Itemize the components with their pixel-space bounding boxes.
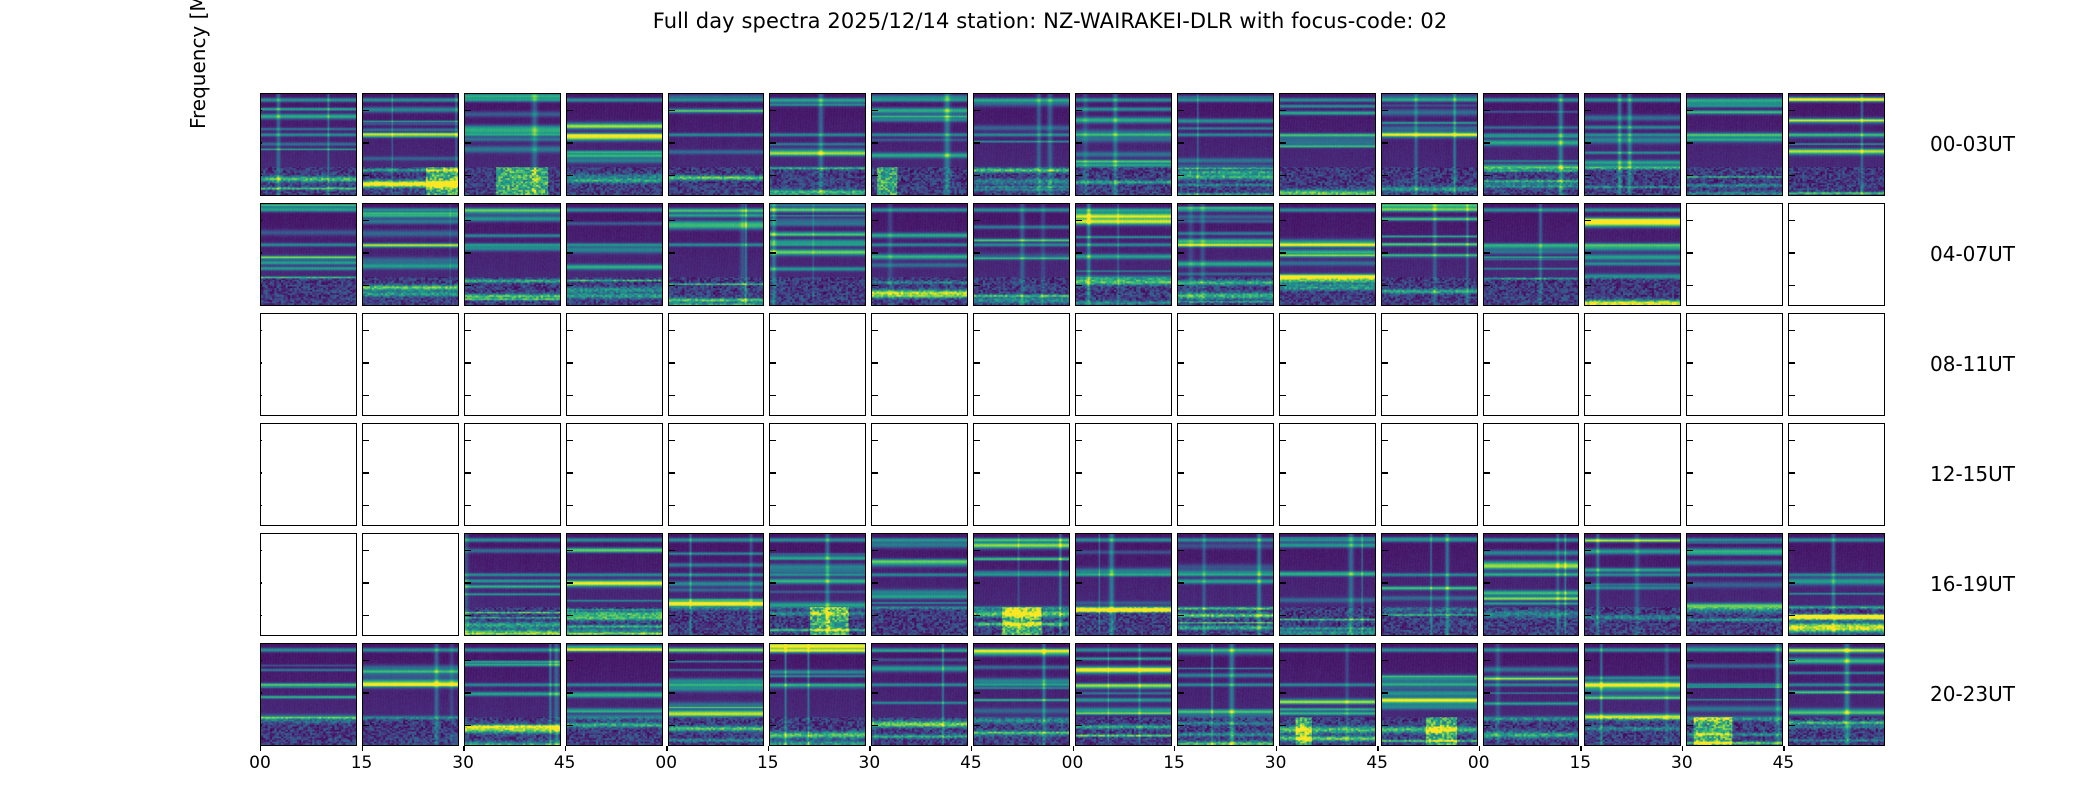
y-tick-mark (1585, 285, 1591, 287)
spectrogram-image (1178, 94, 1273, 195)
spectrogram-panel[interactable] (973, 203, 1070, 306)
y-tick-mark (1280, 582, 1286, 584)
spectrogram-panel-empty[interactable] (1177, 423, 1274, 526)
spectrogram-panel[interactable] (668, 93, 765, 196)
spectrogram-panel[interactable] (1381, 203, 1478, 306)
y-tick-mark (1382, 660, 1388, 662)
y-tick-mark (1789, 330, 1795, 332)
spectrogram-image (1178, 534, 1273, 635)
y-tick-mark (1585, 362, 1591, 364)
y-tick-mark (1382, 220, 1388, 222)
spectrogram-image (363, 644, 458, 745)
x-tick-mark (362, 746, 363, 751)
row-time-label: 12-15UT (1930, 462, 2015, 486)
spectrogram-panel[interactable] (973, 643, 1070, 746)
y-tick-mark (465, 110, 471, 112)
spectrogram-panel[interactable]: 750500250 (260, 203, 357, 306)
y-tick-mark (1789, 550, 1795, 552)
y-tick-mark (260, 220, 262, 222)
y-tick-mark (260, 550, 262, 552)
y-tick-mark (1382, 175, 1388, 177)
x-tick-label: 45 (554, 753, 576, 773)
y-tick-mark (974, 440, 980, 442)
spectrogram-panel-empty[interactable] (668, 423, 765, 526)
y-tick-mark (1076, 110, 1082, 112)
y-tick-mark (1687, 142, 1693, 144)
spectrogram-panel[interactable] (871, 533, 968, 636)
spectrogram-panel[interactable] (1177, 203, 1274, 306)
y-tick-mark (1585, 582, 1591, 584)
y-tick-mark (770, 550, 776, 552)
x-tick-mark (260, 746, 261, 751)
x-tick-mark (1783, 746, 1784, 751)
row-time-label: 04-07UT (1930, 242, 2015, 266)
x-tick-label: 30 (859, 753, 881, 773)
y-tick-mark (567, 582, 573, 584)
y-tick-mark (1076, 660, 1082, 662)
y-tick-mark (1076, 362, 1082, 364)
y-tick-mark (669, 725, 675, 727)
spectrogram-panel[interactable] (566, 203, 663, 306)
y-tick-mark (974, 252, 980, 254)
y-tick-mark (1382, 252, 1388, 254)
y-tick-mark (1076, 582, 1082, 584)
spectrogram-panel-empty[interactable] (464, 313, 561, 416)
y-tick-mark (465, 582, 471, 584)
spectrogram-image (872, 94, 967, 195)
y-tick-mark (1382, 440, 1388, 442)
y-tick-mark (260, 285, 262, 287)
spectrogram-panel-empty[interactable] (1686, 423, 1783, 526)
spectrogram-panel-empty[interactable] (1075, 313, 1172, 416)
y-tick-mark (669, 220, 675, 222)
y-tick-mark (1585, 252, 1591, 254)
y-tick-mark (260, 505, 262, 507)
y-tick-mark (770, 252, 776, 254)
y-tick-mark (1280, 660, 1286, 662)
y-tick-mark (1280, 692, 1286, 694)
y-tick-mark (1076, 505, 1082, 507)
spectrogram-panel[interactable] (1686, 643, 1783, 746)
y-tick-mark (770, 725, 776, 727)
y-tick-mark (567, 110, 573, 112)
spectrogram-panel[interactable]: 750500250 (260, 643, 357, 746)
spectrogram-panel[interactable] (871, 643, 968, 746)
spectrogram-panel[interactable] (769, 203, 866, 306)
y-tick-mark (1585, 175, 1591, 177)
spectrogram-panel-empty[interactable] (1686, 203, 1783, 306)
y-axis-label: Frequency [MHz] (186, 0, 210, 235)
spectrogram-panel[interactable] (1584, 93, 1681, 196)
spectrogram-panel[interactable] (566, 533, 663, 636)
y-tick-mark (669, 505, 675, 507)
spectrogram-panel-empty[interactable] (566, 423, 663, 526)
y-tick-mark (872, 175, 878, 177)
y-tick-mark (669, 472, 675, 474)
y-tick-mark (1484, 220, 1490, 222)
spectrogram-image (1382, 644, 1477, 745)
y-tick-mark (1076, 142, 1082, 144)
spectrogram-panel[interactable] (464, 533, 561, 636)
y-tick-mark (974, 395, 980, 397)
y-tick-mark (465, 220, 471, 222)
spectrogram-panel[interactable] (668, 643, 765, 746)
x-tick-mark (1174, 746, 1175, 751)
y-tick-mark (872, 692, 878, 694)
y-tick-mark (260, 660, 262, 662)
y-tick-mark (363, 110, 369, 112)
spectrogram-image (1178, 204, 1273, 305)
spectrogram-panel-empty[interactable] (1075, 423, 1172, 526)
y-tick-mark (669, 142, 675, 144)
spectrogram-panel[interactable] (1788, 93, 1885, 196)
y-tick-mark (770, 660, 776, 662)
y-tick-mark (974, 550, 980, 552)
y-tick-mark (1076, 395, 1082, 397)
spectrogram-panel[interactable]: 750500250 (260, 93, 357, 196)
spectrogram-panel[interactable] (871, 93, 968, 196)
spectrogram-panel[interactable] (1686, 93, 1783, 196)
y-tick-mark (1484, 660, 1490, 662)
x-tick-mark (1682, 746, 1683, 751)
spectrogram-panel-empty[interactable] (1177, 313, 1274, 416)
y-tick-mark (1280, 142, 1286, 144)
y-tick-mark (1178, 220, 1184, 222)
spectrogram-panel-empty[interactable] (668, 313, 765, 416)
y-tick-mark (872, 330, 878, 332)
spectrogram-image (1382, 94, 1477, 195)
spectrogram-panel[interactable] (769, 643, 866, 746)
spectrogram-panel[interactable] (769, 533, 866, 636)
spectrogram-panel[interactable] (1177, 93, 1274, 196)
y-tick-mark (567, 175, 573, 177)
spectrogram-panel[interactable] (1483, 643, 1580, 746)
spectrogram-panel[interactable] (362, 93, 459, 196)
y-tick-mark (669, 395, 675, 397)
y-tick-mark (872, 285, 878, 287)
y-tick-mark (669, 582, 675, 584)
y-tick-mark (465, 550, 471, 552)
y-tick-mark (1382, 395, 1388, 397)
spectrogram-panel-empty[interactable] (566, 313, 663, 416)
spectrogram-panel-empty[interactable] (464, 423, 561, 526)
x-tick-label: 15 (1163, 753, 1185, 773)
spectrogram-row: 750500250 (260, 423, 1885, 526)
y-tick-mark (1687, 395, 1693, 397)
spectrogram-image (669, 534, 764, 635)
spectrogram-panel-empty[interactable] (871, 313, 968, 416)
y-tick-mark (770, 220, 776, 222)
spectrogram-row: 750500250 (260, 643, 1885, 746)
y-tick-mark (1076, 220, 1082, 222)
y-tick-mark (974, 660, 980, 662)
y-tick-mark (363, 252, 369, 254)
spectrogram-panel[interactable] (1075, 643, 1172, 746)
spectrogram-panel[interactable] (973, 93, 1070, 196)
x-tick-mark (666, 746, 667, 751)
spectrogram-panel[interactable] (1381, 93, 1478, 196)
y-tick-mark (1178, 692, 1184, 694)
y-tick-mark (1178, 142, 1184, 144)
spectrogram-image (1687, 534, 1782, 635)
spectrogram-panel-empty[interactable] (1584, 423, 1681, 526)
y-tick-mark (770, 472, 776, 474)
y-tick-mark (1178, 505, 1184, 507)
spectrogram-panel[interactable] (1686, 533, 1783, 636)
spectrogram-panel[interactable] (566, 93, 663, 196)
panel-strip: 750500250 (260, 423, 1885, 526)
spectrogram-panel-empty[interactable] (973, 423, 1070, 526)
y-tick-mark (669, 110, 675, 112)
y-tick-mark (1280, 550, 1286, 552)
spectrogram-panel[interactable] (1584, 643, 1681, 746)
y-tick-mark (567, 550, 573, 552)
y-tick-mark (1789, 472, 1795, 474)
y-tick-mark (363, 505, 369, 507)
spectrogram-panel[interactable] (1075, 203, 1172, 306)
spectrogram-panel[interactable] (668, 203, 765, 306)
y-tick-mark (567, 692, 573, 694)
y-tick-mark (260, 142, 262, 144)
y-tick-mark (1280, 615, 1286, 617)
y-tick-mark (1280, 330, 1286, 332)
spectrogram-panel-empty[interactable] (1381, 423, 1478, 526)
row-time-label: 20-23UT (1930, 682, 2015, 706)
y-tick-mark (770, 110, 776, 112)
spectrogram-image (1280, 94, 1375, 195)
y-tick-mark (260, 440, 262, 442)
spectrogram-panel[interactable] (566, 643, 663, 746)
spectrogram-panel-empty[interactable] (1788, 423, 1885, 526)
y-tick-mark (1484, 175, 1490, 177)
y-tick-mark (974, 582, 980, 584)
y-tick-mark (1789, 692, 1795, 694)
spectrogram-panel[interactable] (668, 533, 765, 636)
y-tick-mark (363, 692, 369, 694)
y-tick-mark (1382, 472, 1388, 474)
y-tick-mark (872, 505, 878, 507)
spectrogram-panel-empty[interactable] (1686, 313, 1783, 416)
spectrogram-panel-empty[interactable] (362, 423, 459, 526)
y-tick-mark (363, 362, 369, 364)
y-tick-mark (1178, 252, 1184, 254)
y-tick-mark (770, 330, 776, 332)
y-tick-mark (1280, 285, 1286, 287)
spectrogram-panel-empty[interactable] (1279, 423, 1376, 526)
row-time-label: 16-19UT (1930, 572, 2015, 596)
y-tick-mark (974, 110, 980, 112)
spectrogram-panel[interactable] (769, 93, 866, 196)
spectrogram-panel-empty[interactable]: 750500250 (260, 313, 357, 416)
spectrogram-panel[interactable] (1483, 533, 1580, 636)
spectrogram-image (1789, 644, 1884, 745)
spectrogram-panel[interactable] (1177, 533, 1274, 636)
y-tick-mark (1687, 440, 1693, 442)
y-tick-mark (465, 660, 471, 662)
y-tick-mark (363, 175, 369, 177)
spectrogram-image (974, 644, 1069, 745)
spectrogram-panel-empty[interactable] (1279, 313, 1376, 416)
spectrogram-image (1382, 534, 1477, 635)
y-tick-mark (1484, 725, 1490, 727)
y-tick-mark (1178, 582, 1184, 584)
y-tick-mark (567, 220, 573, 222)
y-tick-mark (1178, 395, 1184, 397)
y-tick-mark (1687, 725, 1693, 727)
y-tick-mark (1687, 615, 1693, 617)
y-tick-mark (669, 692, 675, 694)
spectrogram-panel[interactable] (1483, 203, 1580, 306)
spectrogram-panel-empty[interactable]: 750500250 (260, 423, 357, 526)
spectrogram-image (669, 644, 764, 745)
spectrogram-panel[interactable] (464, 93, 561, 196)
y-tick-mark (1789, 440, 1795, 442)
spectrogram-panel-empty[interactable] (362, 313, 459, 416)
spectrogram-panel[interactable] (1279, 533, 1376, 636)
spectrogram-panel[interactable] (1483, 93, 1580, 196)
spectrogram-panel[interactable] (973, 533, 1070, 636)
y-tick-mark (872, 395, 878, 397)
y-tick-mark (974, 472, 980, 474)
spectrogram-image (770, 644, 865, 745)
spectrogram-image (1585, 204, 1680, 305)
x-tick-label: 15 (1569, 753, 1591, 773)
spectrogram-panel[interactable] (1788, 533, 1885, 636)
x-tick-mark (869, 746, 870, 751)
y-tick-mark (363, 550, 369, 552)
y-tick-mark (260, 395, 262, 397)
y-tick-mark (465, 692, 471, 694)
y-tick-mark (1789, 660, 1795, 662)
x-tick-mark (1580, 746, 1581, 751)
spectrogram-image (363, 204, 458, 305)
y-tick-mark (1280, 220, 1286, 222)
spectrogram-panel[interactable] (1177, 643, 1274, 746)
x-tick-mark (1073, 746, 1074, 751)
spectrogram-panel[interactable] (1788, 643, 1885, 746)
y-tick-mark (1382, 362, 1388, 364)
y-tick-mark (974, 615, 980, 617)
y-tick-mark (1280, 175, 1286, 177)
y-tick-mark (872, 660, 878, 662)
spectrogram-panel-empty[interactable] (973, 313, 1070, 416)
spectrogram-image (770, 534, 865, 635)
figure-title: Full day spectra 2025/12/14 station: NZ-… (0, 9, 2100, 33)
y-tick-mark (567, 362, 573, 364)
x-tick-label: 15 (351, 753, 373, 773)
y-tick-mark (567, 725, 573, 727)
y-tick-mark (974, 175, 980, 177)
spectrogram-image (1178, 644, 1273, 745)
spectrogram-panel[interactable] (464, 203, 561, 306)
spectrogram-panel-empty[interactable] (769, 313, 866, 416)
x-tick-label: 00 (249, 753, 271, 773)
y-tick-mark (465, 395, 471, 397)
spectrogram-panel[interactable] (1279, 93, 1376, 196)
row-time-label: 08-11UT (1930, 352, 2015, 376)
y-tick-mark (1585, 550, 1591, 552)
y-tick-mark (669, 362, 675, 364)
y-tick-mark (1382, 285, 1388, 287)
spectrogram-panel-empty[interactable] (871, 423, 968, 526)
spectrogram-panel-empty[interactable] (1381, 313, 1478, 416)
spectrogram-panel[interactable] (362, 643, 459, 746)
spectrogram-image (974, 94, 1069, 195)
y-tick-mark (872, 252, 878, 254)
spectrogram-panel[interactable] (1381, 533, 1478, 636)
spectrogram-panel-empty[interactable] (1788, 313, 1885, 416)
spectrogram-image (669, 94, 764, 195)
x-tick-mark (1479, 746, 1480, 751)
spectrogram-panel[interactable] (1075, 93, 1172, 196)
y-tick-mark (1382, 615, 1388, 617)
spectrogram-panel[interactable] (871, 203, 968, 306)
y-tick-mark (974, 330, 980, 332)
y-tick-mark (770, 505, 776, 507)
row-time-label: 00-03UT (1930, 132, 2015, 156)
y-tick-mark (260, 615, 262, 617)
spectrogram-panel-empty[interactable] (362, 533, 459, 636)
y-tick-mark (1280, 362, 1286, 364)
y-tick-mark (465, 505, 471, 507)
x-tick-mark (768, 746, 769, 751)
y-tick-mark (465, 362, 471, 364)
y-tick-mark (669, 550, 675, 552)
y-tick-mark (1789, 220, 1795, 222)
y-tick-mark (1789, 582, 1795, 584)
spectrogram-panel-empty[interactable]: 750500250 (260, 533, 357, 636)
spectrogram-panel[interactable] (1584, 203, 1681, 306)
spectrogram-panel[interactable] (1279, 643, 1376, 746)
y-tick-mark (669, 330, 675, 332)
y-tick-mark (363, 395, 369, 397)
y-tick-mark (260, 725, 262, 727)
spectrogram-panel[interactable] (362, 203, 459, 306)
y-tick-mark (363, 725, 369, 727)
x-tick-label: 45 (1366, 753, 1388, 773)
y-tick-mark (1382, 142, 1388, 144)
spectrogram-panel[interactable] (464, 643, 561, 746)
y-tick-mark (1076, 472, 1082, 474)
y-tick-mark (363, 472, 369, 474)
y-tick-mark (974, 285, 980, 287)
spectrogram-panel-empty[interactable] (1483, 423, 1580, 526)
spectrogram-panel-empty[interactable] (1483, 313, 1580, 416)
y-tick-mark (1076, 252, 1082, 254)
spectrogram-panel[interactable] (1381, 643, 1478, 746)
y-tick-mark (1382, 505, 1388, 507)
figure-canvas: Full day spectra 2025/12/14 station: NZ-… (0, 0, 2100, 800)
y-tick-mark (1178, 175, 1184, 177)
y-tick-mark (770, 615, 776, 617)
spectrogram-panel-empty[interactable] (1584, 313, 1681, 416)
y-tick-mark (872, 440, 878, 442)
spectrogram-panel[interactable] (1279, 203, 1376, 306)
spectrogram-panel[interactable] (1584, 533, 1681, 636)
spectrogram-panel-empty[interactable] (1788, 203, 1885, 306)
y-tick-mark (669, 615, 675, 617)
y-tick-mark (465, 615, 471, 617)
y-tick-mark (1585, 615, 1591, 617)
y-tick-mark (567, 330, 573, 332)
spectrogram-panel[interactable] (1075, 533, 1172, 636)
spectrogram-image (1076, 204, 1171, 305)
spectrogram-image (1687, 644, 1782, 745)
y-tick-mark (363, 220, 369, 222)
y-tick-mark (1178, 615, 1184, 617)
spectrogram-panel-empty[interactable] (769, 423, 866, 526)
y-tick-mark (260, 582, 262, 584)
